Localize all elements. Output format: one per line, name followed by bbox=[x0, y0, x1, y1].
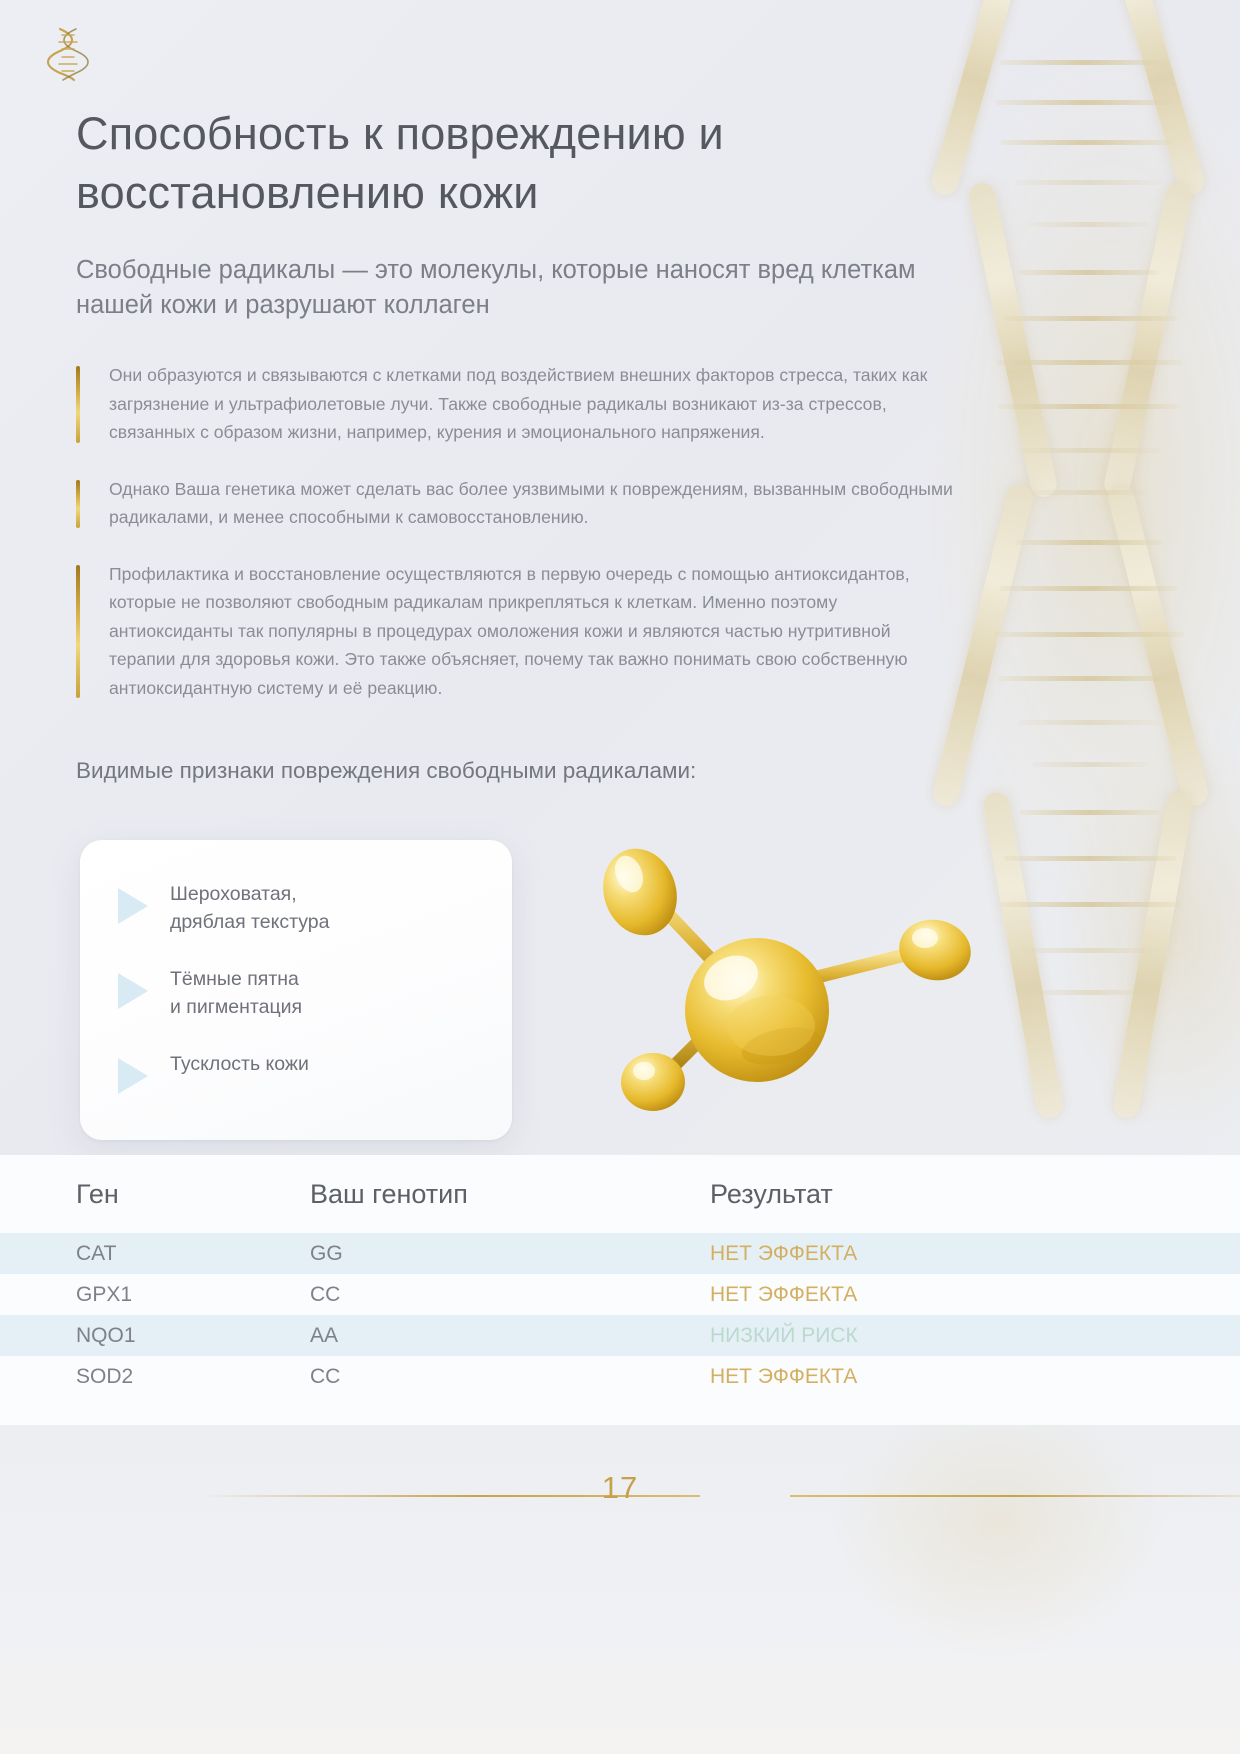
column-header-result: Результат bbox=[710, 1179, 1240, 1210]
cell-result: НЕТ ЭФФЕКТА bbox=[710, 1283, 1240, 1307]
sign-label: Тёмные пятна и пигментация bbox=[170, 965, 302, 1022]
cell-gene: GPX1 bbox=[0, 1283, 310, 1307]
list-item: Тёмные пятна и пигментация bbox=[106, 965, 486, 1022]
table-row: CAT GG НЕТ ЭФФЕКТА bbox=[0, 1233, 1240, 1274]
sign-label: Тусклость кожи bbox=[170, 1050, 309, 1078]
paragraph-block: Они образуются и связываются с клетками … bbox=[76, 361, 956, 447]
cell-gene: SOD2 bbox=[0, 1365, 310, 1389]
table-header-row: Ген Ваш генотип Результат bbox=[0, 1155, 1240, 1233]
paragraph-text: Однако Ваша генетика может сделать вас б… bbox=[109, 479, 953, 528]
paragraph-block: Однако Ваша генетика может сделать вас б… bbox=[76, 475, 956, 532]
paragraph-list: Они образуются и связываются с клетками … bbox=[76, 361, 956, 702]
list-item: Тусклость кожи bbox=[106, 1050, 486, 1094]
page-number: 17 bbox=[0, 1470, 1240, 1506]
content-column: Способность к повреждению и восстановлен… bbox=[76, 0, 956, 784]
cell-genotype: CC bbox=[310, 1283, 710, 1307]
gold-molecule-illustration bbox=[585, 830, 1015, 1140]
cell-genotype: CC bbox=[310, 1365, 710, 1389]
paragraph-text: Они образуются и связываются с клетками … bbox=[109, 365, 927, 442]
paragraph-block: Профилактика и восстановление осуществля… bbox=[76, 560, 956, 703]
triangle-right-icon bbox=[118, 1058, 148, 1094]
gold-bar-accent bbox=[76, 480, 80, 528]
visible-signs-card: Шероховатая, дряблая текстура Тёмные пят… bbox=[80, 840, 512, 1140]
cell-gene: CAT bbox=[0, 1242, 310, 1266]
cell-result: НЕТ ЭФФЕКТА bbox=[710, 1242, 1240, 1266]
cell-result: НИЗКИЙ РИСК bbox=[710, 1324, 1240, 1348]
column-header-gene: Ген bbox=[0, 1179, 310, 1210]
report-page: Способность к повреждению и восстановлен… bbox=[0, 0, 1240, 1754]
column-header-genotype: Ваш генотип bbox=[310, 1179, 710, 1210]
cell-result: НЕТ ЭФФЕКТА bbox=[710, 1365, 1240, 1389]
page-subtitle: Свободные радикалы — это молекулы, котор… bbox=[76, 253, 956, 323]
table-row: GPX1 CC НЕТ ЭФФЕКТА bbox=[0, 1274, 1240, 1315]
signs-heading: Видимые признаки повреждения свободными … bbox=[76, 758, 956, 784]
triangle-right-icon bbox=[118, 888, 148, 924]
cell-genotype: GG bbox=[310, 1242, 710, 1266]
paragraph-text: Профилактика и восстановление осуществля… bbox=[109, 564, 910, 698]
cell-genotype: AA bbox=[310, 1324, 710, 1348]
gene-results-table: Ген Ваш генотип Результат CAT GG НЕТ ЭФФ… bbox=[0, 1155, 1240, 1397]
table-row: NQO1 AA НИЗКИЙ РИСК bbox=[0, 1315, 1240, 1356]
cell-gene: NQO1 bbox=[0, 1324, 310, 1348]
page-title: Способность к повреждению и восстановлен… bbox=[76, 104, 956, 223]
gold-bar-accent bbox=[76, 565, 80, 699]
list-item: Шероховатая, дряблая текстура bbox=[106, 880, 486, 937]
table-row: SOD2 CC НЕТ ЭФФЕКТА bbox=[0, 1356, 1240, 1397]
gold-bar-accent bbox=[76, 366, 80, 443]
triangle-right-icon bbox=[118, 973, 148, 1009]
sign-label: Шероховатая, дряблая текстура bbox=[170, 880, 330, 937]
